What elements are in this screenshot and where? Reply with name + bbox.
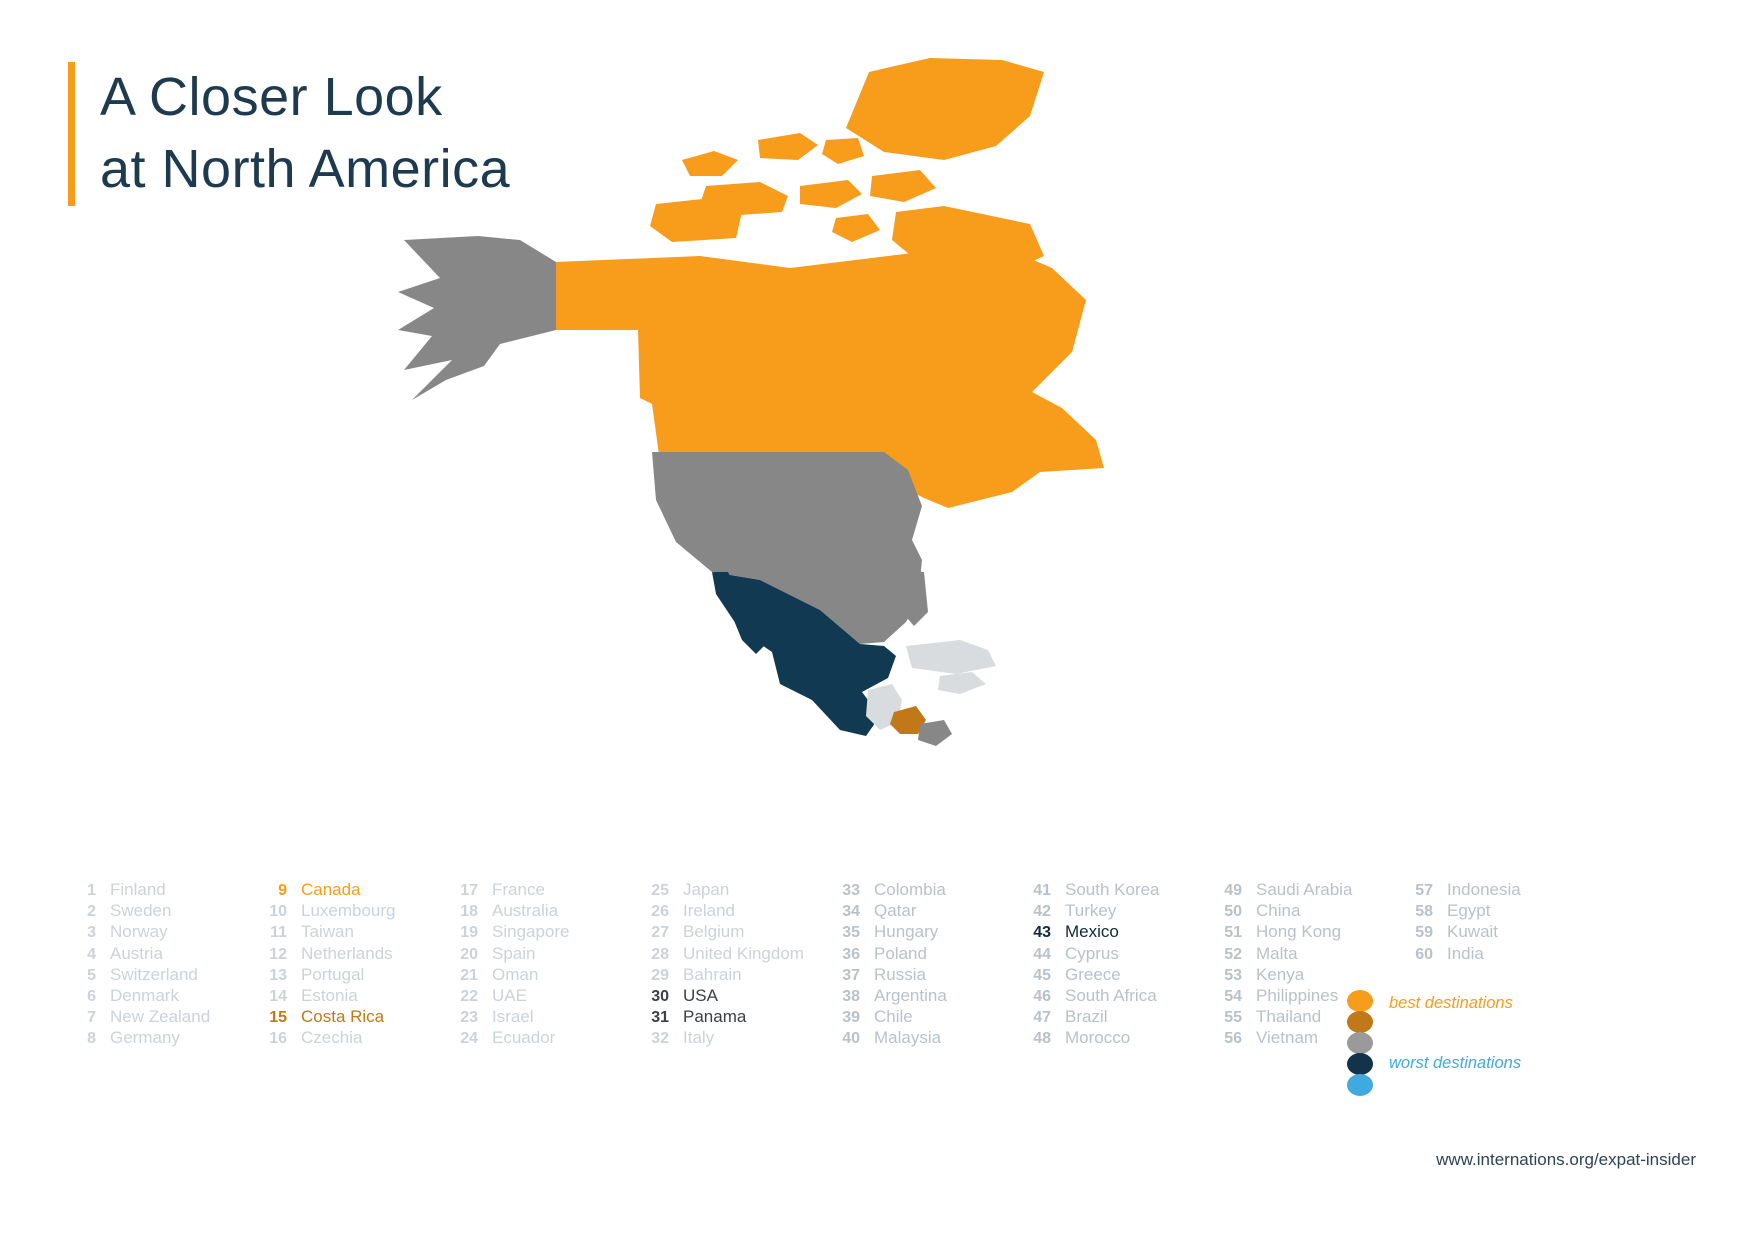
rank-country: Spain — [492, 944, 535, 964]
rank-country: Vietnam — [1256, 1028, 1318, 1048]
list-item[interactable]: 3Norway — [62, 922, 253, 943]
rank-country: Russia — [874, 965, 926, 985]
map-region-arctic-island-7 — [832, 214, 880, 242]
rank-country: Norway — [110, 922, 168, 942]
rank-country: Taiwan — [301, 922, 354, 942]
map-region-panama — [918, 720, 952, 746]
rank-number: 52 — [1208, 946, 1242, 964]
map-region-arctic-island-6 — [870, 170, 936, 202]
rank-number: 20 — [444, 946, 478, 964]
rank-number: 42 — [1017, 903, 1051, 921]
list-item[interactable]: 12Netherlands — [253, 944, 444, 965]
list-item[interactable]: 52Malta — [1208, 944, 1399, 965]
rank-number: 44 — [1017, 946, 1051, 964]
map-region-arctic-island-5 — [800, 180, 862, 208]
list-item[interactable]: 7New Zealand — [62, 1007, 253, 1028]
map-region-caribbean-1 — [906, 640, 996, 674]
rank-number: 54 — [1208, 988, 1242, 1006]
map-region-caribbean-2 — [938, 672, 986, 694]
map-region-arctic-island-2 — [758, 133, 818, 160]
rank-number: 23 — [444, 1009, 478, 1027]
rank-number: 5 — [62, 967, 96, 985]
rank-country: India — [1447, 944, 1484, 964]
list-item[interactable]: 13Portugal — [253, 965, 444, 986]
rank-country: France — [492, 880, 545, 900]
rank-number: 17 — [444, 882, 478, 900]
list-item[interactable]: 38Argentina — [826, 986, 1017, 1007]
list-item[interactable]: 4Austria — [62, 944, 253, 965]
map-region-central-america — [866, 684, 902, 730]
list-item[interactable]: 18Australia — [444, 901, 635, 922]
rank-number: 43 — [1017, 924, 1051, 942]
rank-country: Argentina — [874, 986, 947, 1006]
list-item[interactable]: 48Morocco — [1017, 1028, 1208, 1049]
rank-number: 45 — [1017, 967, 1051, 985]
map-region-usa — [652, 452, 922, 644]
rank-country: Japan — [683, 880, 729, 900]
ranking-column-6: 41South Korea 42Turkey 43Mexico 44Cyprus… — [1017, 880, 1208, 1050]
page-title: A Closer Look at North America — [100, 62, 510, 206]
rank-number: 49 — [1208, 882, 1242, 900]
rank-number: 34 — [826, 903, 860, 921]
rank-number: 38 — [826, 988, 860, 1006]
rank-number: 1 — [62, 882, 96, 900]
rank-country: Bahrain — [683, 965, 742, 985]
rank-country: Poland — [874, 944, 927, 964]
rank-country: UAE — [492, 986, 527, 1006]
rank-country: Mexico — [1065, 922, 1119, 942]
rank-country: Turkey — [1065, 901, 1116, 921]
map-region-alaska — [398, 236, 556, 400]
list-item-panama[interactable]: 31Panama — [635, 1007, 826, 1028]
rank-country: Chile — [874, 1007, 913, 1027]
rank-country: Kuwait — [1447, 922, 1498, 942]
rank-number: 19 — [444, 924, 478, 942]
list-item[interactable]: 42Turkey — [1017, 901, 1208, 922]
rank-number: 47 — [1017, 1009, 1051, 1027]
list-item[interactable]: 1Finland — [62, 880, 253, 901]
rank-number: 10 — [253, 903, 287, 921]
legend-dot-worst-blue — [1347, 1074, 1373, 1096]
rank-country: Cyprus — [1065, 944, 1119, 964]
legend-dot-navy — [1347, 1053, 1373, 1075]
rank-country: Qatar — [874, 901, 917, 921]
rank-number: 26 — [635, 903, 669, 921]
rank-country: South Africa — [1065, 986, 1157, 1006]
list-item[interactable]: 2Sweden — [62, 901, 253, 922]
rank-number: 2 — [62, 903, 96, 921]
legend-dot-brown — [1347, 1011, 1373, 1033]
list-item[interactable]: 17France — [444, 880, 635, 901]
rank-number: 7 — [62, 1009, 96, 1027]
map-region-canada — [556, 250, 1104, 508]
rank-country: Greece — [1065, 965, 1121, 985]
list-item[interactable]: 44Cyprus — [1017, 944, 1208, 965]
rank-number: 28 — [635, 946, 669, 964]
list-item[interactable]: 26Ireland — [635, 901, 826, 922]
list-item[interactable]: 8Germany — [62, 1028, 253, 1049]
map-region-arctic-island-8 — [892, 206, 1044, 276]
list-item[interactable]: 5Switzerland — [62, 965, 253, 986]
ranking-column-2: 9Canada 10Luxembourg 11Taiwan 12Netherla… — [253, 880, 444, 1050]
list-item[interactable]: 47Brazil — [1017, 1007, 1208, 1028]
list-item[interactable]: 41South Korea — [1017, 880, 1208, 901]
map-region-canada-labrador — [1012, 432, 1082, 464]
rank-country: Hong Kong — [1256, 922, 1341, 942]
rank-number: 22 — [444, 988, 478, 1006]
list-item[interactable]: 45Greece — [1017, 965, 1208, 986]
ranking-column-1: 1Finland 2Sweden 3Norway 4Austria 5Switz… — [62, 880, 253, 1050]
list-item-usa[interactable]: 30USA — [635, 986, 826, 1007]
list-item[interactable]: 20Spain — [444, 944, 635, 965]
rank-country: United Kingdom — [683, 944, 804, 964]
rank-country: Thailand — [1256, 1007, 1321, 1027]
rank-country: Oman — [492, 965, 538, 985]
rank-country: Philippines — [1256, 986, 1338, 1006]
ranking-column-5: 33Colombia 34Qatar 35Hungary 36Poland 37… — [826, 880, 1017, 1050]
rank-number: 4 — [62, 946, 96, 964]
rank-country: Hungary — [874, 922, 938, 942]
rank-country: South Korea — [1065, 880, 1160, 900]
rank-number: 59 — [1399, 924, 1433, 942]
list-item[interactable]: 57Indonesia — [1399, 880, 1590, 901]
rank-number: 21 — [444, 967, 478, 985]
rank-number: 12 — [253, 946, 287, 964]
list-item[interactable]: 49Saudi Arabia — [1208, 880, 1399, 901]
rank-country: Sweden — [110, 901, 171, 921]
list-item-costa-rica[interactable]: 15Costa Rica — [253, 1007, 444, 1028]
legend-dot-grey — [1347, 1032, 1373, 1054]
rank-number: 11 — [253, 924, 287, 942]
list-item[interactable]: 35Hungary — [826, 922, 1017, 943]
legend-dot-stack — [1347, 990, 1373, 1095]
list-item[interactable]: 16Czechia — [253, 1028, 444, 1049]
list-item[interactable]: 58Egypt — [1399, 901, 1590, 922]
ranking-column-8: 57Indonesia 58Egypt 59Kuwait 60India — [1399, 880, 1590, 1050]
list-item[interactable]: 11Taiwan — [253, 922, 444, 943]
rank-number: 14 — [253, 988, 287, 1006]
rank-number: 31 — [635, 1009, 669, 1027]
rank-country: Portugal — [301, 965, 364, 985]
rank-country: Netherlands — [301, 944, 393, 964]
rank-country: Ireland — [683, 901, 735, 921]
map-region-mexico — [712, 572, 896, 736]
list-item[interactable]: 28United Kingdom — [635, 944, 826, 965]
rank-number: 29 — [635, 967, 669, 985]
ranking-column-4: 25Japan 26Ireland 27Belgium 28United Kin… — [635, 880, 826, 1050]
rank-country: Israel — [492, 1007, 534, 1027]
rank-number: 13 — [253, 967, 287, 985]
page-title-block: A Closer Look at North America — [68, 62, 510, 206]
rank-number: 32 — [635, 1030, 669, 1048]
rank-number: 6 — [62, 988, 96, 1006]
rank-number: 33 — [826, 882, 860, 900]
list-item-canada[interactable]: 9Canada — [253, 880, 444, 901]
rank-country: Finland — [110, 880, 166, 900]
rank-number: 58 — [1399, 903, 1433, 921]
list-item[interactable]: 40Malaysia — [826, 1028, 1017, 1049]
rank-number: 41 — [1017, 882, 1051, 900]
rank-number: 46 — [1017, 988, 1051, 1006]
rank-number: 50 — [1208, 903, 1242, 921]
rank-country: Czechia — [301, 1028, 362, 1048]
rank-number: 51 — [1208, 924, 1242, 942]
title-accent-bar — [68, 62, 75, 206]
rank-number: 24 — [444, 1030, 478, 1048]
list-item[interactable]: 34Qatar — [826, 901, 1017, 922]
rank-number: 16 — [253, 1030, 287, 1048]
legend-dot-best-orange — [1347, 990, 1373, 1012]
list-item[interactable]: 27Belgium — [635, 922, 826, 943]
list-item-mexico[interactable]: 43Mexico — [1017, 922, 1208, 943]
ranking-column-3: 17France 18Australia 19Singapore 20Spain… — [444, 880, 635, 1050]
list-item[interactable]: 19Singapore — [444, 922, 635, 943]
rank-country: Austria — [110, 944, 163, 964]
rank-country: Indonesia — [1447, 880, 1521, 900]
rank-number: 53 — [1208, 967, 1242, 985]
rank-country: Singapore — [492, 922, 570, 942]
rank-country: China — [1256, 901, 1300, 921]
map-region-greenland — [846, 58, 1044, 160]
list-item[interactable]: 6Denmark — [62, 986, 253, 1007]
rank-number: 55 — [1208, 1009, 1242, 1027]
rank-country: Malta — [1256, 944, 1298, 964]
list-item[interactable]: 25Japan — [635, 880, 826, 901]
list-item[interactable]: 29Bahrain — [635, 965, 826, 986]
rank-country: Belgium — [683, 922, 744, 942]
rank-number: 39 — [826, 1009, 860, 1027]
footer-url[interactable]: www.internations.org/expat-insider — [1436, 1150, 1696, 1170]
map-region-arctic-island-4 — [700, 182, 788, 216]
rank-country: Malaysia — [874, 1028, 941, 1048]
rank-number: 40 — [826, 1030, 860, 1048]
rank-number: 56 — [1208, 1030, 1242, 1048]
rank-number: 35 — [826, 924, 860, 942]
rank-number: 30 — [635, 988, 669, 1006]
rank-number: 15 — [253, 1009, 287, 1027]
rank-country: Egypt — [1447, 901, 1490, 921]
legend-label-best: best destinations — [1389, 994, 1513, 1013]
list-item[interactable]: 23Israel — [444, 1007, 635, 1028]
rank-country: Saudi Arabia — [1256, 880, 1352, 900]
map-legend: best destinations worst destinations — [1347, 990, 1389, 1100]
list-item[interactable]: 14Estonia — [253, 986, 444, 1007]
list-item[interactable]: 60India — [1399, 944, 1590, 965]
rank-country: Panama — [683, 1007, 746, 1027]
list-item[interactable]: 53Kenya — [1208, 965, 1399, 986]
rank-number: 8 — [62, 1030, 96, 1048]
map-region-baja-california — [714, 572, 764, 654]
rank-country: Australia — [492, 901, 558, 921]
rank-country: Italy — [683, 1028, 714, 1048]
list-item[interactable]: 33Colombia — [826, 880, 1017, 901]
map-region-arctic-island-3 — [822, 138, 864, 164]
list-item[interactable]: 36Poland — [826, 944, 1017, 965]
rank-country: Canada — [301, 880, 361, 900]
map-region-florida — [898, 570, 928, 626]
map-region-costa-rica — [890, 706, 926, 734]
rank-country: Colombia — [874, 880, 946, 900]
rank-number: 60 — [1399, 946, 1433, 964]
rank-number: 3 — [62, 924, 96, 942]
rank-number: 25 — [635, 882, 669, 900]
rank-country: Brazil — [1065, 1007, 1108, 1027]
list-item[interactable]: 10Luxembourg — [253, 901, 444, 922]
map-region-arctic-island-1 — [682, 151, 738, 176]
legend-label-worst: worst destinations — [1389, 1054, 1521, 1073]
rank-country: Switzerland — [110, 965, 198, 985]
rank-number: 57 — [1399, 882, 1433, 900]
list-item[interactable]: 50China — [1208, 901, 1399, 922]
rank-number: 48 — [1017, 1030, 1051, 1048]
list-item[interactable]: 51Hong Kong — [1208, 922, 1399, 943]
rank-country: Germany — [110, 1028, 180, 1048]
rank-number: 18 — [444, 903, 478, 921]
list-item[interactable]: 22UAE — [444, 986, 635, 1007]
list-item[interactable]: 21Oman — [444, 965, 635, 986]
rank-number: 9 — [253, 882, 287, 900]
list-item[interactable]: 24Ecuador — [444, 1028, 635, 1049]
map-region-arctic-island-9 — [650, 198, 742, 242]
rank-number: 36 — [826, 946, 860, 964]
rank-number: 27 — [635, 924, 669, 942]
list-item[interactable]: 32Italy — [635, 1028, 826, 1049]
rank-country: New Zealand — [110, 1007, 210, 1027]
rank-country: Denmark — [110, 986, 179, 1006]
list-item[interactable]: 39Chile — [826, 1007, 1017, 1028]
rank-number: 37 — [826, 967, 860, 985]
map-region-baffin — [958, 272, 1046, 352]
rank-country: Luxembourg — [301, 901, 396, 921]
rank-country: USA — [683, 986, 718, 1006]
list-item[interactable]: 37Russia — [826, 965, 1017, 986]
list-item[interactable]: 46South Africa — [1017, 986, 1208, 1007]
rank-country: Ecuador — [492, 1028, 555, 1048]
rank-country: Costa Rica — [301, 1007, 384, 1027]
rank-country: Kenya — [1256, 965, 1304, 985]
list-item[interactable]: 59Kuwait — [1399, 922, 1590, 943]
rank-country: Morocco — [1065, 1028, 1130, 1048]
rank-country: Estonia — [301, 986, 358, 1006]
